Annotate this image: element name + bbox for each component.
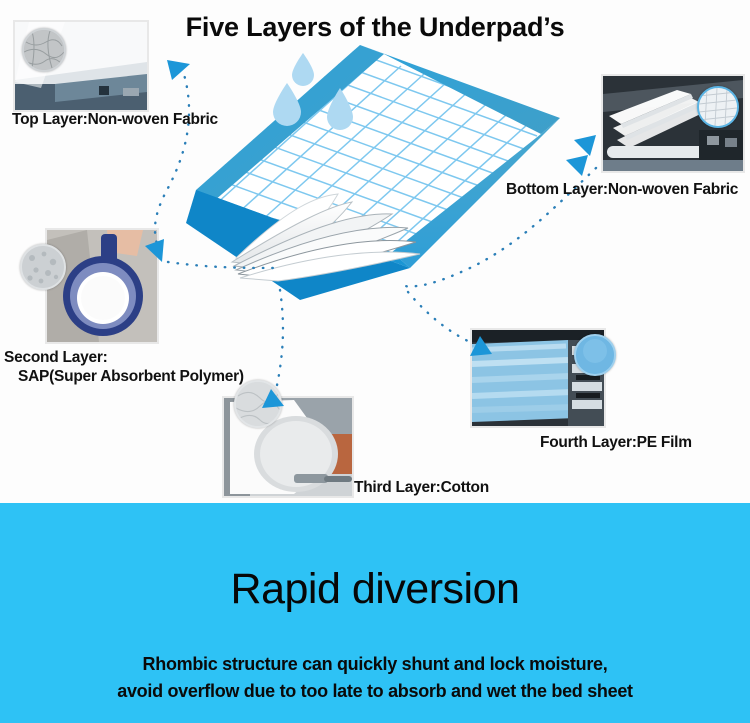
page-title: Five Layers of the Underpad’s — [0, 12, 750, 43]
connector-third-layer — [276, 290, 283, 390]
label-second-layer-line2: SAP(Super Absorbent Polymer) — [4, 367, 244, 386]
connector-fourth-layer — [408, 292, 474, 344]
label-fourth-layer: Fourth Layer:PE Film — [540, 433, 692, 452]
banner-description-line1: Rhombic structure can quickly shunt and … — [0, 651, 750, 678]
arrowhead-fourth-layer — [470, 336, 492, 356]
label-second-layer: Second Layer: SAP(Super Absorbent Polyme… — [4, 348, 244, 386]
label-second-layer-line1: Second Layer: — [4, 349, 108, 366]
label-bottom-layer: Bottom Layer:Non-woven Fabric — [506, 180, 738, 199]
arrowhead-third-layer — [262, 389, 284, 408]
arrowhead-bottom-layer-2 — [566, 155, 588, 176]
arrowhead-second-layer — [145, 239, 164, 262]
arrowhead-top-layer — [167, 60, 190, 80]
banner-description-line2: avoid overflow due to too late to absorb… — [0, 678, 750, 705]
banner-heading: Rapid diversion — [0, 565, 750, 614]
label-top-layer: Top Layer:Non-woven Fabric — [12, 110, 218, 129]
connector-top-layer — [155, 68, 189, 252]
arrowhead-bottom-layer-1 — [574, 135, 596, 156]
rapid-diversion-banner: Rapid diversion Rhombic structure can qu… — [0, 503, 750, 723]
connector-second-layer — [168, 262, 276, 268]
label-third-layer: Third Layer:Cotton — [354, 478, 489, 497]
banner-description: Rhombic structure can quickly shunt and … — [0, 651, 750, 705]
infographic-canvas: Five Layers of the Underpad’s — [0, 0, 750, 723]
